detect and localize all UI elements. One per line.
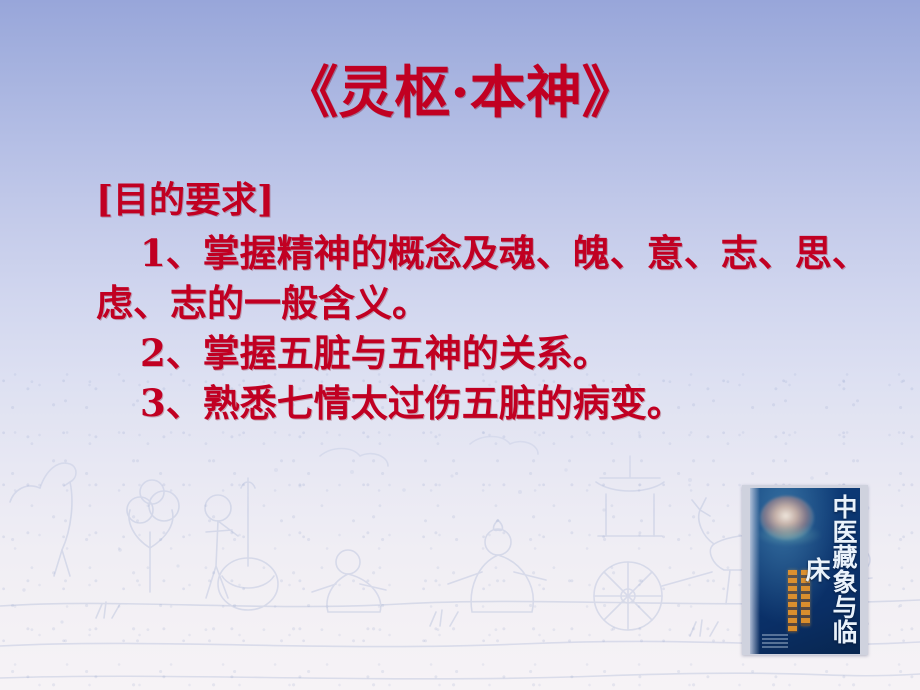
book-publisher-mark [762, 634, 788, 648]
objective-item-3: 3、熟悉七情太过伤五脏的病变。 [96, 378, 886, 428]
book-spine-glow [750, 488, 760, 654]
objectives-block: [目的要求] 1、掌握精神的概念及魂、魄、意、志、思、虑、志的一般含义。 2、掌… [96, 178, 886, 428]
page-title: 《灵枢·本神》 [0, 62, 920, 124]
book-cover-photo: 中医藏象与临床 [750, 488, 860, 654]
amber-column-1 [788, 570, 797, 632]
objective-item-1: 1、掌握精神的概念及魂、魄、意、志、思、虑、志的一般含义。 [96, 228, 886, 328]
book-cover-image: 中医藏象与临床 [742, 485, 868, 655]
objectives-heading: [目的要求] [96, 178, 886, 222]
objective-item-2: 2、掌握五脏与五神的关系。 [96, 328, 886, 378]
book-cover-glow-graphic [756, 524, 822, 546]
slide-canvas: 《灵枢·本神》 [目的要求] 1、掌握精神的概念及魂、魄、意、志、思、虑、志的一… [0, 0, 920, 690]
book-cover-title: 中医藏象与临床 [827, 494, 857, 644]
